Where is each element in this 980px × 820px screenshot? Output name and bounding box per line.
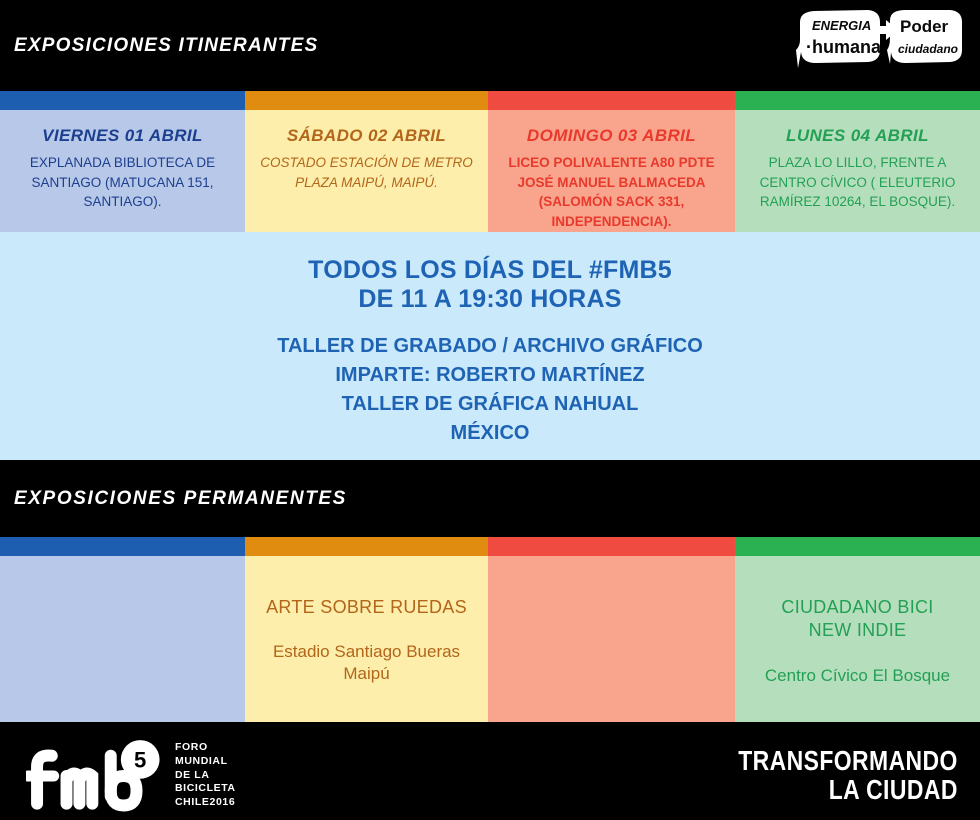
perm-column-bar-1 xyxy=(0,537,245,556)
workshop-instructor-line: IMPARTE: ROBERTO MARTÍNEZ xyxy=(0,361,980,390)
perm-column-bar-4 xyxy=(735,537,980,556)
section-header-itinerantes: EXPOSICIONES ITINERANTES ENERGIA ·humana… xyxy=(0,0,980,91)
section-title-itinerantes: EXPOSICIONES ITINERANTES xyxy=(0,35,318,57)
itinerant-place-label: COSTADO ESTACIÓN DE METRO PLAZA MAIPÚ, M… xyxy=(257,153,476,192)
permanent-title-ciudadano-bici: CIUDADANO BICINEW INDIE xyxy=(735,596,980,643)
itinerant-day-label: DOMINGO 03 ABRIL xyxy=(500,126,723,146)
poster-root: EXPOSICIONES ITINERANTES ENERGIA ·humana… xyxy=(0,0,980,820)
permanentes-columns: ARTE SOBRE RUEDAS Estadio Santiago Buera… xyxy=(0,556,980,722)
permanent-title-arte-sobre-ruedas: ARTE SOBRE RUEDAS xyxy=(245,596,488,619)
fmb5-sub-line-2: MUNDIAL xyxy=(175,755,236,769)
permanent-venue-centro-civico-el-bosque: Centro Cívico El Bosque xyxy=(735,665,980,687)
itinerant-day-label: VIERNES 01 ABRIL xyxy=(12,126,233,146)
schedule-hours-line: DE 11 A 19:30 HORAS xyxy=(0,285,980,314)
itinerant-column-viernes: VIERNES 01 ABRIL EXPLANADA BIBLIOTECA DE… xyxy=(0,110,245,232)
itinerant-column-sabado: SÁBADO 02 ABRIL COSTADO ESTACIÓN DE METR… xyxy=(245,110,488,232)
fmb5-sub-line-1: FORO xyxy=(175,741,236,755)
brand-word-ciudadano: ciudadano xyxy=(898,42,958,56)
brand-word-humana: ·humana xyxy=(806,37,882,57)
perm-column-bar-3 xyxy=(488,537,735,556)
permanent-venue-estadio-santiago-bueras: Estadio Santiago BuerasMaipú xyxy=(245,641,488,685)
section-header-permanentes: EXPOSICIONES PERMANENTES xyxy=(0,460,980,537)
footer-tagline-line-2: LA CIUDAD xyxy=(738,776,958,805)
fmb5-sub-line-4: BICICLETA xyxy=(175,782,236,796)
fmb5-sub-line-3: DE LA xyxy=(175,769,236,783)
footer-tagline-line-1: TRANSFORMANDO xyxy=(738,747,958,776)
fmb5-logo-subtitle: FORO MUNDIAL DE LA BICICLETA CHILE2016 xyxy=(175,741,236,810)
itinerant-place-label: PLAZA LO LILLO, FRENTE A CENTRO CÍVICO (… xyxy=(747,153,968,212)
column-bar-viernes xyxy=(0,91,245,110)
permanent-column-1 xyxy=(0,556,245,722)
column-bar-sabado xyxy=(245,91,488,110)
workshop-title-line: TALLER DE GRABADO / ARCHIVO GRÁFICO xyxy=(0,332,980,361)
column-bar-lunes xyxy=(735,91,980,110)
section-title-permanentes: EXPOSICIONES PERMANENTES xyxy=(0,488,347,510)
fmb5-sub-line-5: CHILE2016 xyxy=(175,796,236,810)
itinerant-column-lunes: LUNES 04 ABRIL PLAZA LO LILLO, FRENTE A … xyxy=(735,110,980,232)
permanent-column-2: ARTE SOBRE RUEDAS Estadio Santiago Buera… xyxy=(245,556,488,722)
energia-humana-poder-ciudadano-logo: ENERGIA ·humana Poder ciudadano xyxy=(794,6,966,78)
permanent-column-4: CIUDADANO BICINEW INDIE Centro Cívico El… xyxy=(735,556,980,722)
itinerantes-bar-row xyxy=(0,91,980,110)
brand-word-poder: Poder xyxy=(900,17,949,36)
footer: 5 FORO MUNDIAL DE LA BICICLETA CHILE2016… xyxy=(0,722,980,820)
fmb5-logo: 5 FORO MUNDIAL DE LA BICICLETA CHILE2016 xyxy=(26,739,236,813)
footer-tagline: TRANSFORMANDO LA CIUDAD xyxy=(738,747,958,804)
workshop-country-line: MÉXICO xyxy=(0,419,980,448)
permanentes-bar-row xyxy=(0,537,980,556)
schedule-spacer xyxy=(0,315,980,332)
itinerant-place-label: EXPLANADA BIBLIOTECA DE SANTIAGO (MATUCA… xyxy=(12,153,233,212)
itinerant-column-domingo: DOMINGO 03 ABRIL LICEO POLIVALENTE A80 P… xyxy=(488,110,735,232)
brand-word-energia: ENERGIA xyxy=(812,18,871,33)
permanent-column-3 xyxy=(488,556,735,722)
fmb5-number: 5 xyxy=(134,747,146,772)
itinerant-day-label: SÁBADO 02 ABRIL xyxy=(257,126,476,146)
perm-column-bar-2 xyxy=(245,537,488,556)
itinerantes-columns: VIERNES 01 ABRIL EXPLANADA BIBLIOTECA DE… xyxy=(0,110,980,232)
column-bar-domingo xyxy=(488,91,735,110)
workshop-studio-line: TALLER DE GRÁFICA NAHUAL xyxy=(0,390,980,419)
itinerant-day-label: LUNES 04 ABRIL xyxy=(747,126,968,146)
fmb5-logomark: 5 xyxy=(26,739,166,813)
itinerant-place-label: LICEO POLIVALENTE A80 PDTE JOSÉ MANUEL B… xyxy=(500,153,723,231)
schedule-info-block: TODOS LOS DÍAS DEL #FMB5 DE 11 A 19:30 H… xyxy=(0,232,980,460)
schedule-days-line: TODOS LOS DÍAS DEL #FMB5 xyxy=(0,256,980,285)
